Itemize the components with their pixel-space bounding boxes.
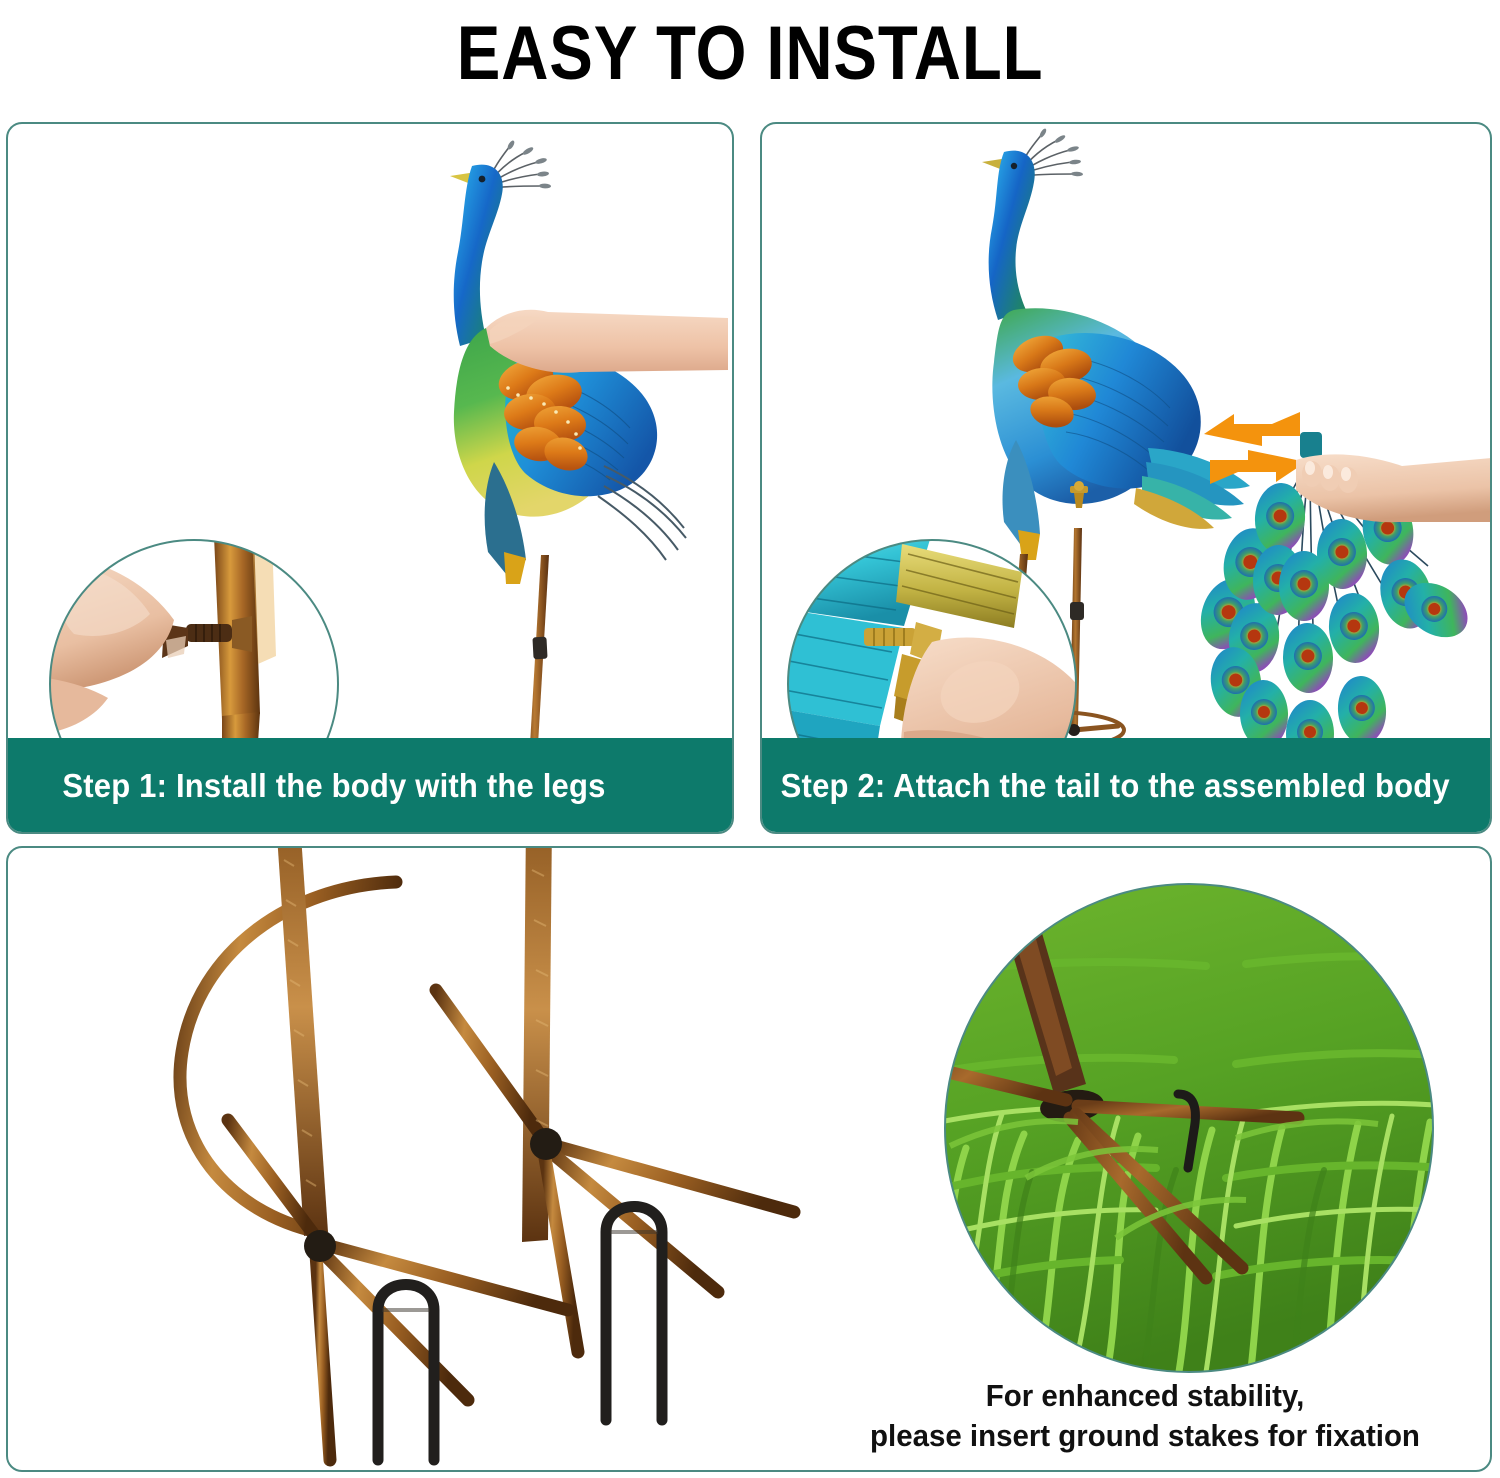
stakes-caption: For enhanced stability, please insert gr… (832, 1376, 1459, 1455)
foot-right-bars (436, 990, 794, 1352)
legs-and-stakes-photo (78, 846, 858, 1472)
step-1-label: Step 1: Install the body with the legs (6, 767, 606, 805)
leg-left (276, 846, 328, 1236)
step-1-stage: Step 1: Install the body with the legs (8, 124, 732, 832)
rebar-texture (284, 860, 548, 1186)
ground-stake-icon (378, 1207, 662, 1461)
peacock-neck (989, 151, 1035, 320)
eye-feathers (1192, 481, 1477, 768)
grass-stake-inset (906, 878, 1472, 1378)
peacock-neck (454, 165, 503, 346)
install-instructions-page: EASY TO INSTALL (0, 0, 1500, 1478)
step-2-banner: Step 2: Attach the tail to the assembled… (760, 738, 1492, 834)
step-1-banner: Step 1: Install the body with the legs (6, 738, 734, 834)
stakes-caption-line-1: For enhanced stability, (832, 1376, 1459, 1416)
step-2-label: Step 2: Attach the tail to the assembled… (760, 767, 1450, 805)
peacock-body-photo (398, 132, 728, 592)
tail-hub (1300, 432, 1322, 458)
foot-left-weld (304, 1230, 336, 1262)
leg-coupling (532, 637, 547, 660)
step-2-panel: Step 2: Attach the tail to the assembled… (760, 122, 1492, 834)
grass-inset-content (906, 878, 1472, 1378)
foot-right-weld (530, 1128, 562, 1160)
step-1-panel: Step 1: Install the body with the legs (6, 122, 734, 834)
peacock-eye (1011, 163, 1017, 169)
step-2-stage: Step 2: Attach the tail to the assembled… (762, 124, 1490, 832)
page-title: EASY TO INSTALL (457, 16, 1044, 92)
peacock-eye (479, 176, 486, 183)
page-title-bar: EASY TO INSTALL (0, 0, 1500, 108)
stakes-caption-line-2: please insert ground stakes for fixation (832, 1416, 1459, 1456)
